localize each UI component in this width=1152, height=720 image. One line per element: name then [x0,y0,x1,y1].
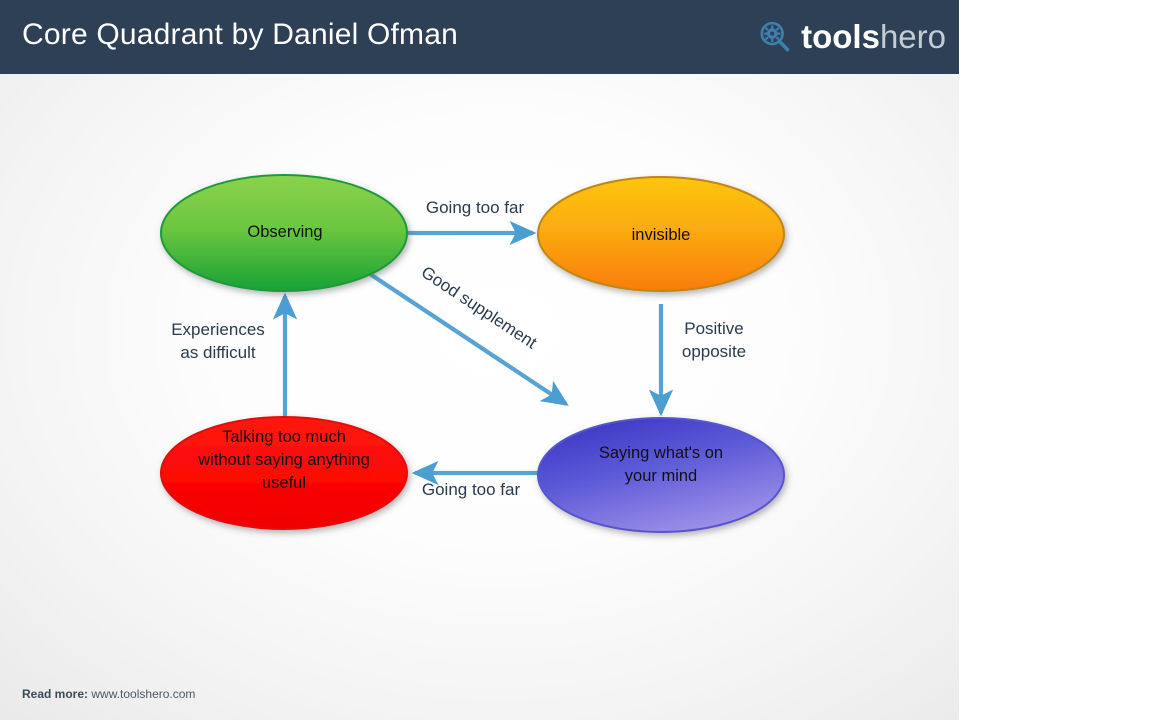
arrow-core-to-challenge [370,274,566,404]
magnifier-gear-icon [758,20,792,54]
slide-canvas: Core Quadrant by Daniel Ofman [0,0,959,720]
node-ellipse-pitfall[interactable] [538,177,784,291]
toolshero-logo: toolshero [758,14,946,60]
footer-read-more: Read more: www.toolshero.com [22,687,195,701]
slide-header: Core Quadrant by Daniel Ofman [0,0,959,74]
node-ellipse-challenge[interactable] [538,418,784,532]
footer-label: Read more: [22,687,88,701]
core-quadrant-diagram: Observing invisible Talking too much wit… [0,74,959,674]
logo-text-tools: tools [801,18,880,55]
diagram-svg [0,74,959,674]
logo-wordmark: toolshero [801,20,946,54]
page-title: Core Quadrant by Daniel Ofman [22,18,458,52]
footer-url[interactable]: www.toolshero.com [91,687,195,701]
node-ellipse-core-quality[interactable] [161,175,407,291]
logo-text-hero: hero [880,18,946,55]
node-ellipse-allergy[interactable] [161,417,407,529]
